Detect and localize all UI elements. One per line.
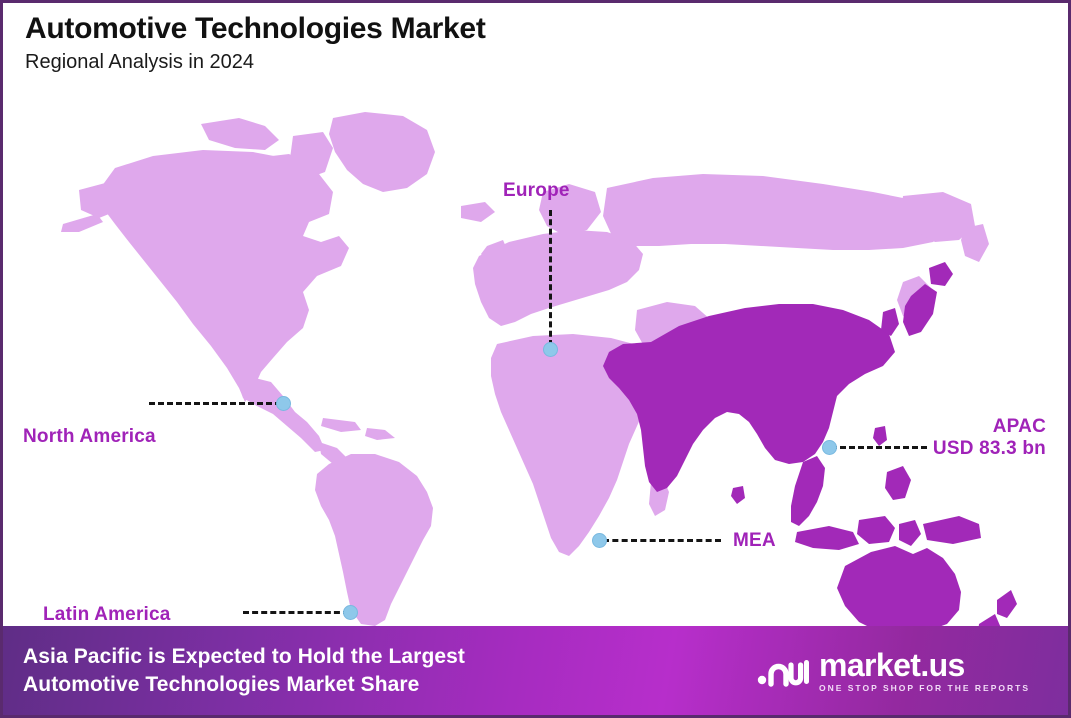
region-label-latin-america: Latin America [43, 604, 171, 626]
logo-wordmark: market.us [819, 649, 965, 681]
region-label-apac-value: USD 83.3 bn [933, 438, 1046, 460]
map-marker-dot-europe[interactable] [543, 342, 558, 357]
logo-text-block: market.us ONE STOP SHOP FOR THE REPORTS [819, 649, 1030, 693]
top-border-rule [3, 0, 1068, 3]
banner-headline-line-1: Asia Pacific is Expected to Hold the Lar… [23, 643, 465, 671]
world-map-svg [3, 96, 1071, 626]
banner-headline: Asia Pacific is Expected to Hold the Lar… [23, 643, 465, 698]
market-us-logo-icon [757, 654, 809, 688]
logo-tagline: ONE STOP SHOP FOR THE REPORTS [819, 684, 1030, 693]
leader-line-latin-america [243, 611, 349, 614]
map-marker-dot-north-america[interactable] [276, 396, 291, 411]
leader-line-mea [603, 539, 721, 542]
region-label-europe: Europe [503, 180, 570, 202]
banner-headline-line-2: Automotive Technologies Market Share [23, 671, 465, 699]
region-label-mea: MEA [733, 530, 776, 552]
leader-line-north-america [149, 402, 281, 405]
region-label-north-america: North America [23, 426, 156, 448]
region-label-apac: APAC USD 83.3 bn [933, 416, 1046, 460]
map-marker-dot-apac[interactable] [822, 440, 837, 455]
map-marker-dot-latin-america[interactable] [343, 605, 358, 620]
bottom-banner: Asia Pacific is Expected to Hold the Lar… [3, 626, 1071, 715]
region-label-apac-name: APAC [993, 416, 1046, 437]
page-subtitle: Regional Analysis in 2024 [25, 51, 805, 73]
header: Automotive Technologies Market Regional … [25, 12, 805, 73]
leader-line-europe [549, 210, 552, 346]
world-map-container: North America Latin America Europe MEA A… [3, 96, 1071, 626]
map-marker-dot-mea[interactable] [592, 533, 607, 548]
page-title: Automotive Technologies Market [25, 12, 805, 45]
leader-line-apac [831, 446, 927, 449]
infographic-root: Automotive Technologies Market Regional … [0, 0, 1071, 718]
brand-logo[interactable]: market.us ONE STOP SHOP FOR THE REPORTS [757, 649, 1052, 693]
